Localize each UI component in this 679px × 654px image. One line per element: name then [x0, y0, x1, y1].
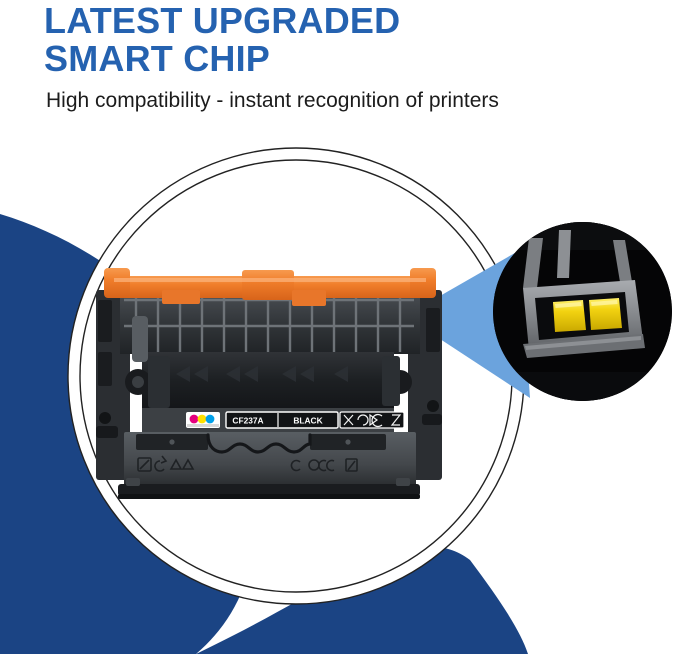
- cartridge-label: CF237A BLACK: [186, 412, 404, 428]
- label-color-name: BLACK: [293, 416, 322, 426]
- smart-chip-magnifier: [493, 222, 672, 401]
- page-title: LATEST UPGRADED SMART CHIP: [44, 2, 644, 78]
- product-marketing-banner: CF237A BLACK: [0, 0, 679, 654]
- label-model: CF237A: [232, 416, 263, 426]
- chip-housing-post-mid: [557, 230, 571, 278]
- toner-cartridge: CF237A BLACK: [96, 256, 442, 505]
- page-subtitle: High compatibility - instant recognition…: [46, 88, 646, 114]
- cartridge-right-mechanism: [382, 356, 412, 406]
